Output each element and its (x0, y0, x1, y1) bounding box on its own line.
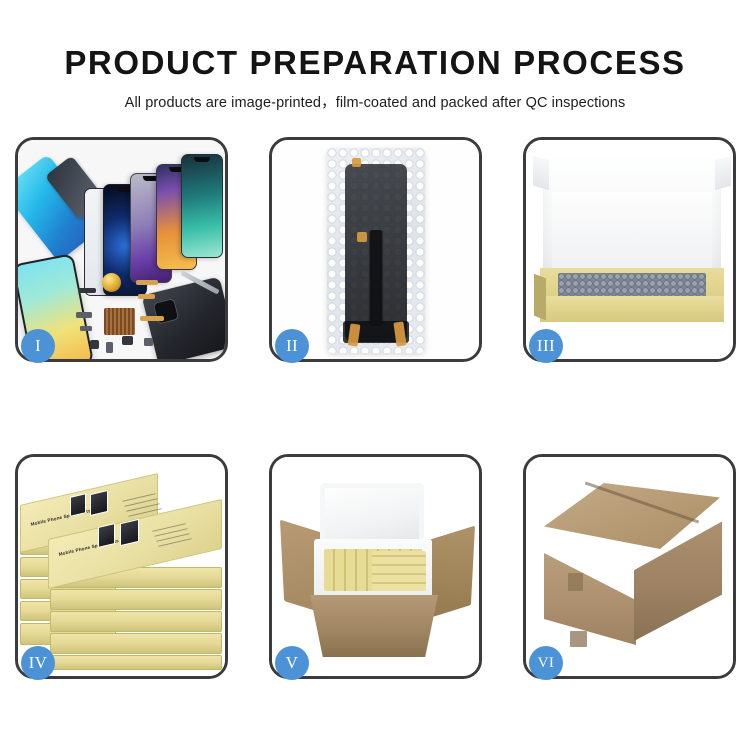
yellow-box-front-icon (540, 296, 724, 322)
step-panel-1[interactable]: I (15, 137, 228, 362)
process-grid: I II (15, 137, 735, 677)
step-image-4: Mobile Phone Spare Parts Mobile Phone Sp… (18, 457, 225, 676)
box-stack: Mobile Phone Spare Parts Mobile Phone Sp… (18, 475, 225, 670)
step-image-5 (272, 457, 479, 676)
chip-icon (122, 336, 133, 345)
infographic-page: PRODUCT PREPARATION PROCESS All products… (0, 0, 750, 750)
foam-sheet-icon (552, 192, 712, 278)
flex-cable-icon (136, 280, 158, 285)
retail-box (50, 633, 222, 654)
step-badge-3: III (529, 329, 563, 363)
step-badge-2: II (275, 329, 309, 363)
chip-icon (78, 288, 96, 293)
step-panel-5[interactable]: V (269, 454, 482, 679)
step-image-3 (526, 140, 733, 359)
step-image-1 (18, 140, 225, 359)
step-image-6 (526, 457, 733, 676)
circuit-grid-icon (104, 308, 135, 335)
tape-tab-icon (347, 323, 360, 346)
flex-cable-icon (369, 230, 382, 326)
flex-cable-icon (138, 294, 155, 299)
connector-icon (76, 312, 92, 318)
step-badge-5: V (275, 646, 309, 680)
connector-icon (144, 338, 153, 346)
header: PRODUCT PREPARATION PROCESS All products… (0, 0, 750, 112)
box-phone-image (120, 519, 139, 546)
carton-tape-icon (568, 573, 583, 591)
retail-box (50, 655, 222, 670)
retail-box (50, 611, 222, 632)
packed-boxes-icon (372, 551, 426, 591)
connector-icon (106, 342, 113, 353)
step-panel-3[interactable]: III (523, 137, 736, 362)
chip-icon (90, 340, 99, 349)
page-subtitle: All products are image-printed，film-coat… (0, 91, 750, 112)
bubble-wrap-bag-icon (327, 148, 425, 353)
phone-display-icon (181, 154, 223, 258)
copper-coil-icon (102, 273, 121, 292)
step-panel-6[interactable]: VI (523, 454, 736, 679)
step-panel-2[interactable]: II (269, 137, 482, 362)
flex-cable-icon (140, 316, 164, 321)
step-badge-4: IV (21, 646, 55, 680)
notch-icon (194, 157, 210, 162)
step-badge-1: I (21, 329, 55, 363)
tape-tab-icon (357, 232, 367, 242)
step-panel-4[interactable]: Mobile Phone Spare Parts Mobile Phone Sp… (15, 454, 228, 679)
foam-lid-icon (320, 483, 424, 545)
carton-body-icon (310, 595, 438, 657)
retail-box (50, 589, 222, 610)
step-image-2 (272, 140, 479, 359)
box-phone-image (90, 490, 108, 516)
carton-tape-icon (570, 631, 587, 647)
page-title: PRODUCT PREPARATION PROCESS (0, 44, 750, 82)
carton-left-face-icon (544, 527, 636, 645)
tape-tab-icon (352, 158, 361, 167)
box-phone-image (70, 493, 86, 517)
yellow-box-side-icon (534, 274, 546, 321)
box-phone-image (98, 523, 115, 548)
step-badge-6: VI (529, 646, 563, 680)
connector-icon (80, 326, 92, 331)
